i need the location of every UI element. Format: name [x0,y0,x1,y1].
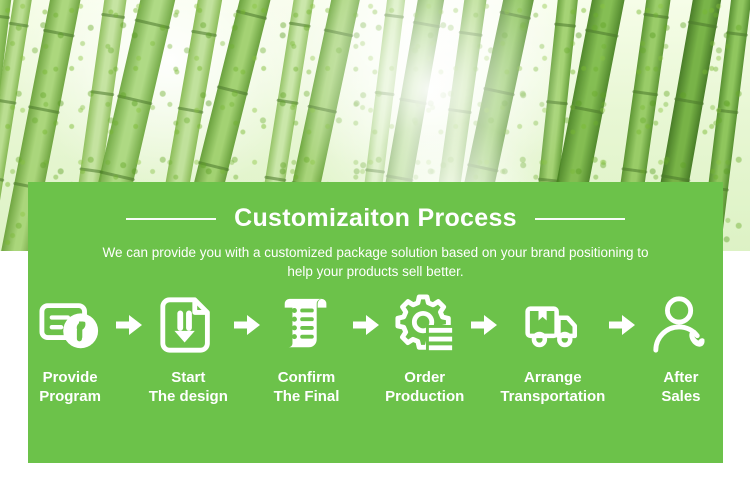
process-step-label-line2: Sales [661,387,700,406]
right-arrow-icon [112,294,146,356]
process-panel: Customizaiton Process We can provide you… [28,182,723,463]
process-step-label-line2: Production [385,387,464,406]
process-step-3: ConfirmThe Final [264,294,348,406]
process-step-label-line1: Provide [39,368,101,387]
process-step-label: ProvideProgram [39,368,101,406]
right-arrow-icon [467,294,501,356]
process-step-label-line1: Order [385,368,464,387]
process-step-label-line2: Program [39,387,101,406]
process-steps: ProvideProgramStartThe designConfirmThe … [28,294,723,406]
support-person-phone-icon [650,294,712,356]
process-step-6: AfterSales [639,294,723,406]
process-step-label-line2: The design [149,387,228,406]
process-step-label-line2: The Final [274,387,340,406]
process-step-label: ArrangeTransportation [500,368,605,406]
process-step-label-line1: Arrange [500,368,605,387]
panel-subtitle: We can provide you with a customized pac… [96,243,656,281]
process-step-4: OrderProduction [383,294,467,406]
process-step-label: OrderProduction [385,368,464,406]
design-document-pencil-icon [157,294,219,356]
page-title: Customizaiton Process [234,204,517,233]
process-step-label-line1: After [661,368,700,387]
promo-banner: Customizaiton Process We can provide you… [0,0,750,485]
card-wrench-icon [39,294,101,356]
title-rule-left [126,218,216,220]
right-arrow-icon [230,294,264,356]
process-step-5: ArrangeTransportation [501,294,605,406]
process-step-label: AfterSales [661,368,700,406]
process-step-label-line2: Transportation [500,387,605,406]
right-arrow-icon [349,294,383,356]
process-step-2: StartThe design [146,294,230,406]
panel-title-row: Customizaiton Process [28,204,723,233]
right-arrow-icon [605,294,639,356]
process-step-label-line1: Confirm [274,368,340,387]
delivery-truck-icon [521,294,585,356]
scroll-checklist-icon [276,294,338,356]
process-step-label: StartThe design [149,368,228,406]
process-step-1: ProvideProgram [28,294,112,406]
gear-production-icon [394,294,456,356]
title-rule-right [535,218,625,220]
process-step-label: ConfirmThe Final [274,368,340,406]
process-step-label-line1: Start [149,368,228,387]
